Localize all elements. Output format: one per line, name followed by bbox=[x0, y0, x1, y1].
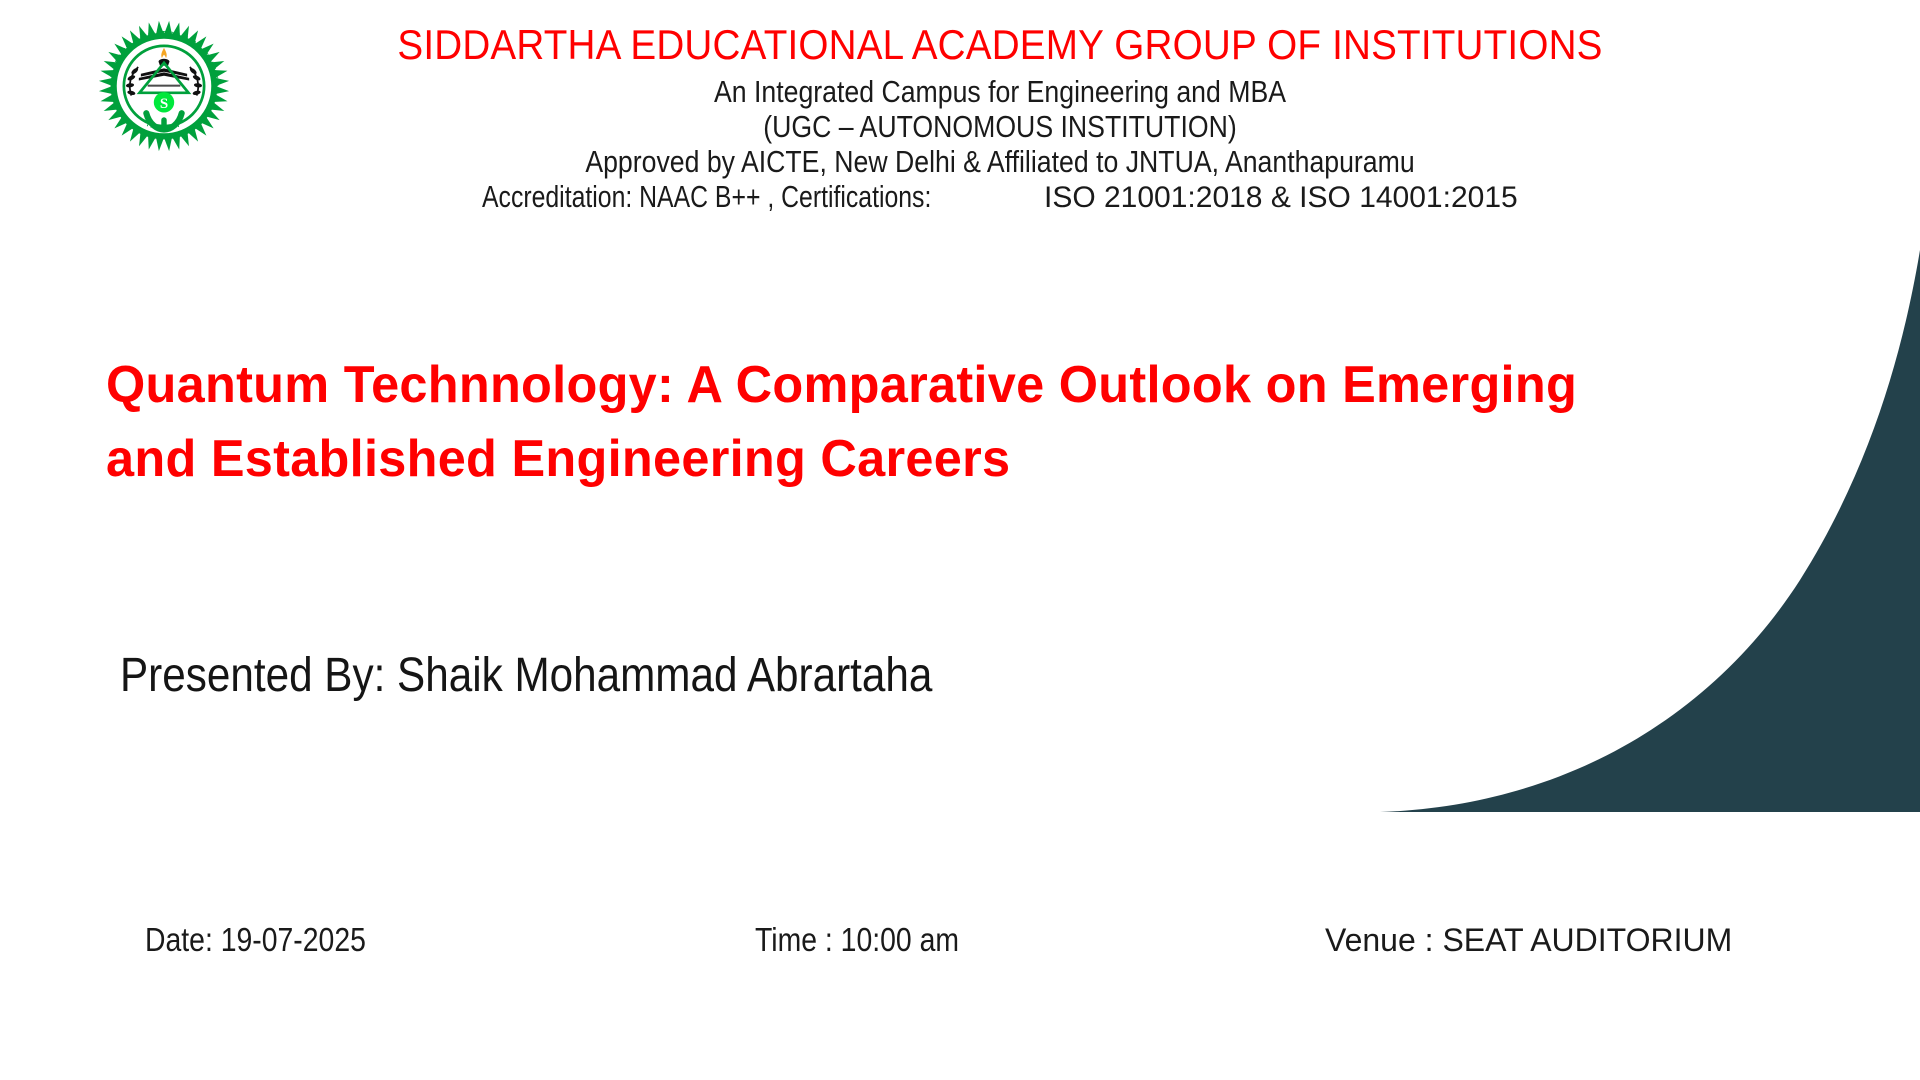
talk-title-line-1: Quantum Technnology: A Comparative Outlo… bbox=[106, 348, 1464, 422]
institution-name: SIDDARTHA EDUCATIONAL ACADEMY GROUP OF I… bbox=[310, 22, 1690, 68]
slide-header: SIDDARTHA EDUCATIONAL ACADEMY GROUP OF I… bbox=[0, 0, 1920, 250]
talk-title-line-2: and Established Engineering Careers bbox=[106, 422, 1464, 496]
event-venue: Venue : SEAT AUDITORIUM bbox=[1325, 920, 1732, 960]
accreditation-certifications: Accreditation: NAAC B++ , Certifications… bbox=[250, 179, 1750, 215]
event-details-row: Date: 19-07-2025 Time : 10:00 am Venue :… bbox=[0, 920, 1920, 980]
autonomy-status: (UGC – AUTONOMOUS INSTITUTION) bbox=[355, 109, 1645, 144]
header-text-block: SIDDARTHA EDUCATIONAL ACADEMY GROUP OF I… bbox=[250, 22, 1750, 215]
event-date: Date: 19-07-2025 bbox=[145, 920, 366, 960]
talk-title: Quantum Technnology: A Comparative Outlo… bbox=[106, 348, 1506, 496]
svg-text:S: S bbox=[160, 96, 168, 112]
presentation-slide: SIDDARTHA EDUCATIONAL ACADEMY GROUP OF I… bbox=[0, 0, 1920, 1080]
campus-tagline: An Integrated Campus for Engineering and… bbox=[355, 74, 1645, 109]
approval-affiliation: Approved by AICTE, New Delhi & Affiliate… bbox=[355, 144, 1645, 179]
accreditation-prefix: Accreditation: NAAC B++ , Certifications… bbox=[482, 179, 931, 214]
presenter-name: Presented By: Shaik Mohammad Abrartaha bbox=[120, 648, 932, 704]
institution-seal-logo: SIDDARTHA EDUCATIONAL ACADEMY GROUP OF I… bbox=[96, 18, 232, 154]
iso-certifications: ISO 21001:2018 & ISO 14001:2015 bbox=[1044, 180, 1518, 215]
decorative-curve-shape bbox=[1380, 250, 1920, 820]
event-time: Time : 10:00 am bbox=[755, 920, 959, 960]
